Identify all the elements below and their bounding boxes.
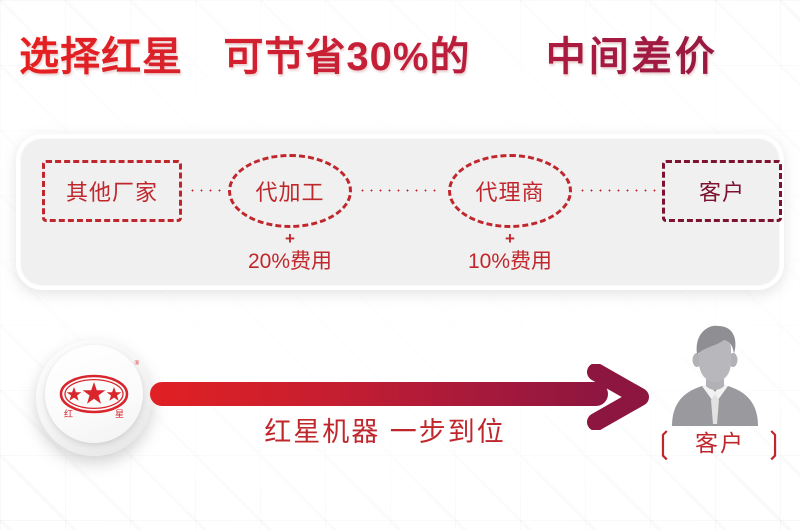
headline-emphasis: 中间差价 [546, 28, 718, 86]
customer-avatar-icon [660, 320, 770, 426]
arrow-caption: 红星机器 一步到位 [150, 410, 620, 449]
fee-plus-sign: + [228, 230, 352, 247]
fee-amount: 10%费用 [448, 248, 572, 275]
connector-agent-to-client [578, 189, 656, 192]
registered-trademark-icon: ® [135, 361, 139, 367]
hongxing-logo-badge: ® 红 星 [36, 340, 152, 456]
bracket-right-icon: ❳ [761, 427, 788, 460]
logo-char-xing: 星 [115, 407, 124, 420]
connector-other-to-oem [188, 189, 222, 192]
fee-markup-agent: + 10%费用 [448, 230, 572, 275]
logo-brand-characters: 红 星 [58, 407, 130, 420]
chain-node-agent: 代理商 [448, 154, 572, 228]
fee-amount: 20%费用 [228, 248, 352, 275]
middleman-chain-card: 其他厂家 代加工 代理商 客户 + 20%费用 + 10%费用 [16, 134, 784, 290]
chain-node-label: 代加工 [255, 175, 324, 207]
bracket-left-icon: ❲ [651, 427, 678, 460]
headline-part-1: 选择红星 [19, 28, 183, 86]
chain-node-other-factory: 其他厂家 [42, 160, 182, 222]
chain-node-oem: 代加工 [228, 154, 352, 228]
page-headline: 选择红星 可节省30%的 〞 中间差价 〞 [0, 26, 800, 86]
logo-inner-disc: ® 红 星 [45, 345, 143, 443]
arrow-shaft [150, 382, 608, 406]
customer-label: 客户 [695, 430, 745, 456]
quote-open-icon: 〞 [483, 24, 533, 66]
fee-markup-oem: + 20%费用 [228, 230, 352, 275]
fee-plus-sign: + [448, 230, 572, 247]
customer-label-tag: ❲ 客户 ❳ [640, 424, 800, 461]
logo-char-hong: 红 [64, 407, 73, 420]
chain-row: 其他厂家 代加工 代理商 客户 + 20%费用 + 10%费用 [20, 138, 780, 286]
headline-part-2: 可节省30%的 [223, 28, 470, 86]
quote-close-icon: 〞 [730, 24, 780, 66]
chain-node-label: 其他厂家 [66, 175, 158, 207]
connector-oem-to-agent [358, 189, 442, 192]
chain-node-label: 代理商 [475, 175, 544, 207]
chain-node-label: 客户 [699, 175, 745, 207]
chain-node-client: 客户 [662, 160, 782, 222]
